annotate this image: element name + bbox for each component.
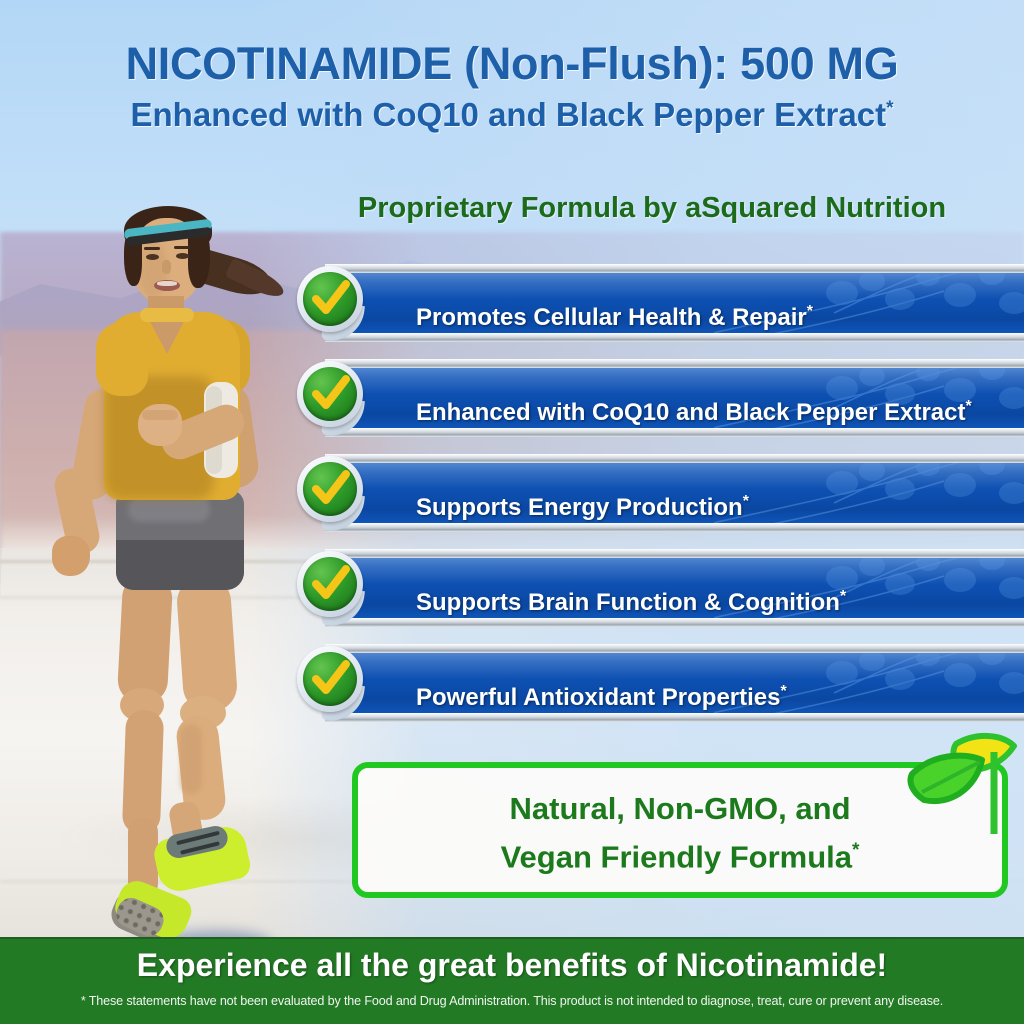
bar-top-edge (325, 264, 1024, 273)
footer-disclaimer: * These statements have not been evaluat… (0, 994, 1024, 1008)
asterisk: * (966, 398, 972, 415)
claim-line-1: Natural, Non-GMO, and (510, 791, 851, 826)
benefit-label-text: Promotes Cellular Health & Repair (416, 304, 807, 331)
benefit-row: Enhanced with CoQ10 and Black Pepper Ext… (0, 359, 1024, 454)
green-check-badge-icon (297, 551, 371, 625)
benefit-bar: Enhanced with CoQ10 and Black Pepper Ext… (330, 368, 1024, 428)
benefit-label: Powerful Antioxidant Properties* (416, 662, 787, 713)
benefit-label-text: Enhanced with CoQ10 and Black Pepper Ext… (416, 399, 966, 426)
green-check-badge-icon (297, 266, 371, 340)
bar-bottom-edge (325, 333, 1024, 342)
green-check-badge-icon (297, 456, 371, 530)
bar-top-edge (325, 644, 1024, 653)
asterisk: * (852, 840, 859, 861)
bar-bottom-edge (325, 618, 1024, 627)
asterisk: * (840, 588, 846, 605)
page-subtitle: Enhanced with CoQ10 and Black Pepper Ext… (0, 96, 1024, 134)
asterisk: * (807, 303, 813, 320)
benefit-label-text: Supports Brain Function & Cognition (416, 589, 840, 616)
asterisk: * (743, 493, 749, 510)
benefit-label: Promotes Cellular Health & Repair* (416, 282, 813, 333)
bar-top-edge (325, 454, 1024, 463)
benefit-row: Supports Energy Production* (0, 454, 1024, 549)
benefit-row: Powerful Antioxidant Properties* (0, 644, 1024, 739)
benefit-label-text: Powerful Antioxidant Properties (416, 684, 781, 711)
benefits-list: Promotes Cellular Health & Repair* (0, 264, 1024, 739)
green-check-badge-icon (297, 361, 371, 435)
floral-watermark (714, 463, 1024, 523)
bar-bottom-edge (325, 713, 1024, 722)
footer-banner: Experience all the great benefits of Nic… (0, 937, 1024, 1024)
benefit-bar: Promotes Cellular Health & Repair* (330, 273, 1024, 333)
benefit-bar: Powerful Antioxidant Properties* (330, 653, 1024, 713)
footer-headline: Experience all the great benefits of Nic… (0, 947, 1024, 984)
leaf-icon (898, 730, 1024, 834)
green-check-badge-icon (297, 646, 371, 720)
benefit-bar: Supports Brain Function & Cognition* (330, 558, 1024, 618)
asterisk: * (781, 683, 787, 700)
bar-bottom-edge (325, 523, 1024, 532)
benefit-row: Promotes Cellular Health & Repair* (0, 264, 1024, 359)
benefit-label: Supports Brain Function & Cognition* (416, 567, 846, 618)
benefit-row: Supports Brain Function & Cognition* (0, 549, 1024, 644)
benefit-label: Enhanced with CoQ10 and Black Pepper Ext… (416, 377, 972, 428)
asterisk: * (886, 98, 893, 119)
bar-top-edge (325, 549, 1024, 558)
benefit-label: Supports Energy Production* (416, 472, 749, 523)
page-subtitle-text: Enhanced with CoQ10 and Black Pepper Ext… (131, 96, 887, 133)
benefit-bar: Supports Energy Production* (330, 463, 1024, 523)
claim-line-2: Vegan Friendly Formula (501, 839, 852, 874)
page-title: NICOTINAMIDE (Non-Flush): 500 MG (0, 38, 1024, 90)
benefit-label-text: Supports Energy Production (416, 494, 743, 521)
bar-top-edge (325, 359, 1024, 368)
formula-heading: Proprietary Formula by aSquared Nutritio… (280, 192, 1024, 225)
bar-bottom-edge (325, 428, 1024, 437)
